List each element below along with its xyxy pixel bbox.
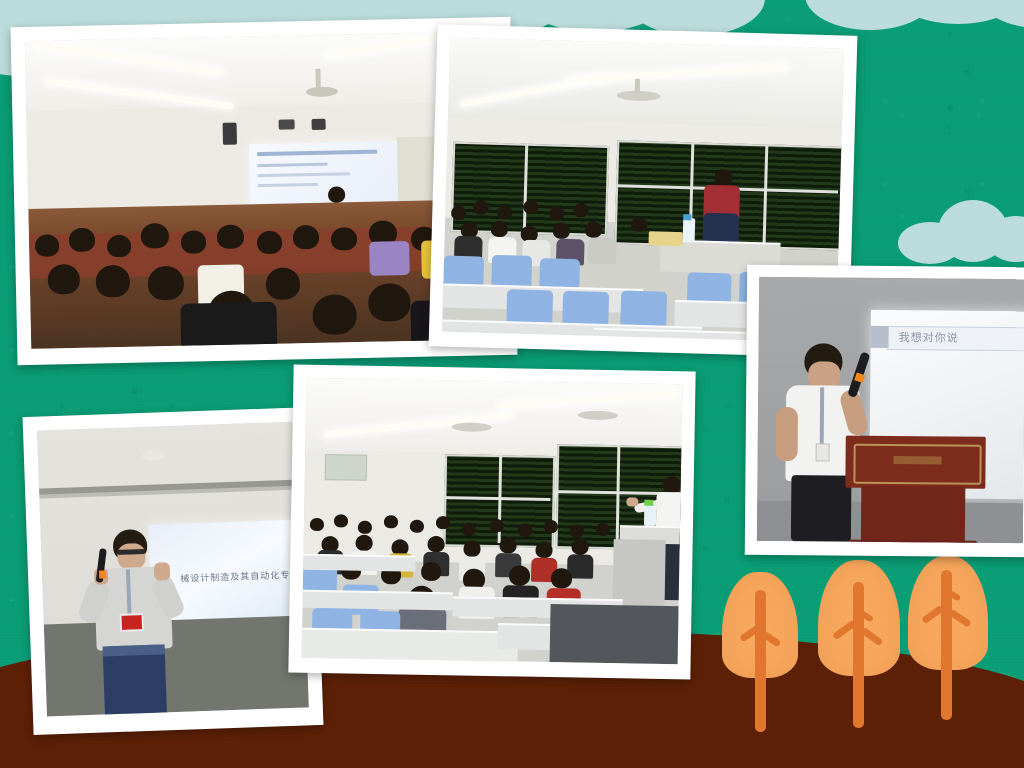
photo-presenter-with-microphone-ok-gesture[interactable]: 械设计制造及其自动化专业 (23, 407, 324, 735)
screen-text: 械设计制造及其自动化专业 (180, 568, 300, 585)
photo-speaker-at-podium-microphone[interactable]: 我想对你说 (745, 265, 1024, 558)
tree-center (818, 560, 904, 728)
tree-right (908, 556, 994, 724)
screen-text: 我想对你说 (899, 329, 959, 346)
photo-classroom-teacher-pointing[interactable] (288, 365, 695, 680)
collage-stage: 我想对你说 (0, 0, 1024, 768)
tree-left (722, 572, 802, 732)
